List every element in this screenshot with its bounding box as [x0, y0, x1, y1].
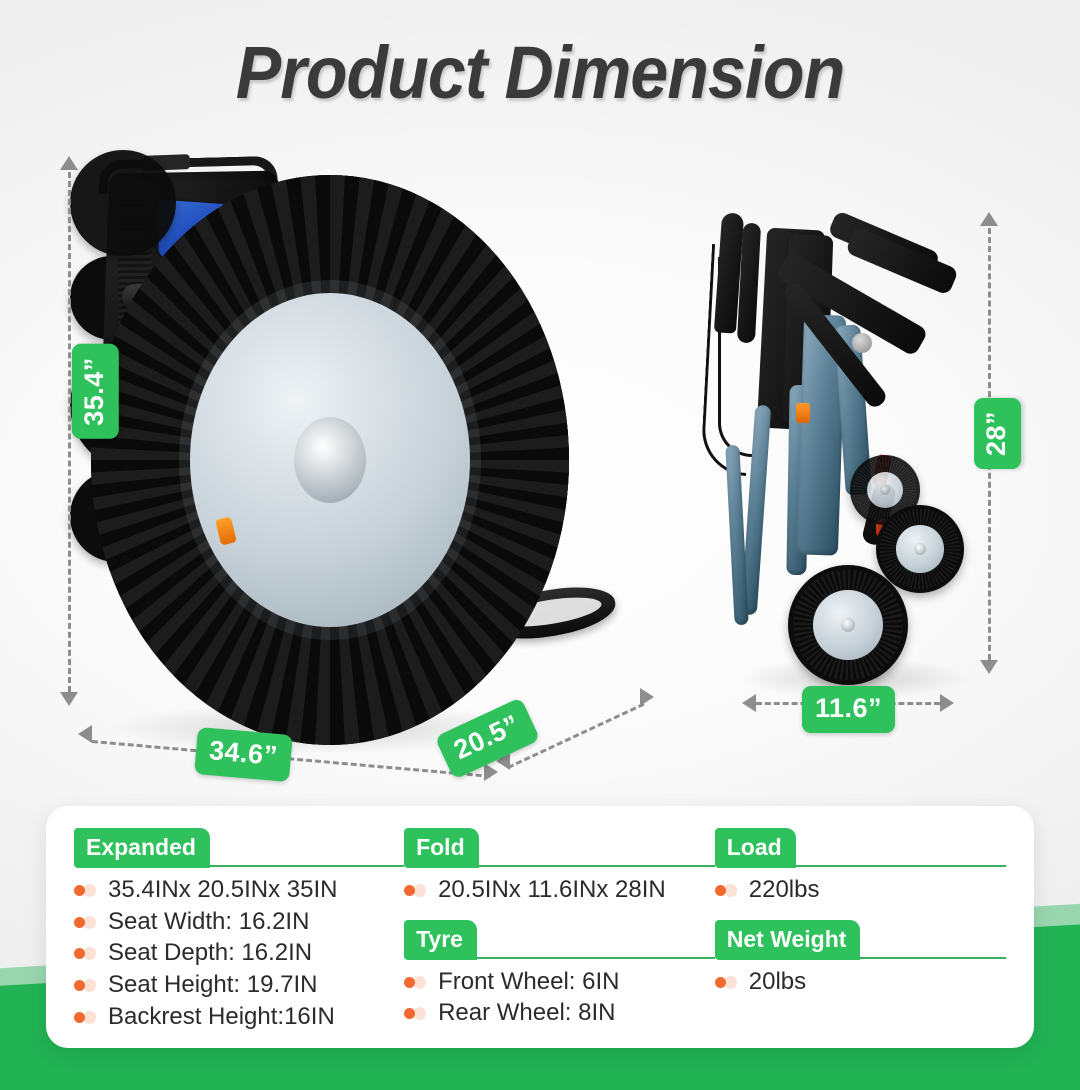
spec-text: 220lbs [749, 874, 820, 906]
spec-list-fold: 20.5INx 11.6INx 28IN [404, 874, 715, 906]
spec-rule [477, 957, 715, 959]
bullet-dot-icon [74, 942, 100, 964]
spec-rule [210, 865, 404, 867]
spec-section-fold: Fold 20.5INx 11.6INx 28IN [404, 828, 715, 906]
spec-column-load-weight: Load 220lbs Net Weight 20lbs [715, 828, 1006, 1026]
dimension-arrow-right [940, 694, 954, 712]
dimension-arrow-left [78, 725, 92, 743]
spec-tag-tyre: Tyre [404, 920, 477, 960]
list-item: Seat Height: 19.7IN [74, 969, 404, 1001]
spec-list-tyre: Front Wheel: 6IN Rear Wheel: 8IN [404, 966, 715, 1029]
bullet-dot-icon [404, 879, 430, 901]
spec-text: Seat Depth: 16.2IN [108, 937, 312, 969]
specification-card: Expanded 35.4INx 20.5INx 35IN Seat Width… [46, 806, 1034, 1048]
spec-text: Seat Width: 16.2IN [108, 906, 309, 938]
list-item: 20.5INx 11.6INx 28IN [404, 874, 715, 906]
dimension-arrow-right [640, 688, 654, 706]
bullet-dot-icon [715, 971, 741, 993]
spec-section-load: Load 220lbs [715, 828, 1006, 906]
spec-section-net-weight: Net Weight 20lbs [715, 920, 1006, 998]
spec-text: Rear Wheel: 8IN [438, 997, 615, 1029]
rear-wheel-far [70, 150, 176, 256]
dimension-label-expanded-height: 35.4” [72, 344, 119, 439]
list-item: Rear Wheel: 8IN [404, 997, 715, 1029]
spec-text: 20.5INx 11.6INx 28IN [438, 874, 666, 906]
spec-text: Front Wheel: 6IN [438, 966, 619, 998]
bullet-dot-icon [715, 879, 741, 901]
wheel-folded-lower [788, 565, 908, 685]
hinge-pivot-folded [852, 333, 872, 353]
list-item: Backrest Height:16IN [74, 1001, 404, 1033]
bullet-dot-icon [74, 879, 100, 901]
wheelchair-folded-image [700, 205, 985, 685]
spec-column-fold-tyre: Fold 20.5INx 11.6INx 28IN Tyre Front Whe… [404, 828, 715, 1026]
dimension-arrow-left [742, 694, 756, 712]
spec-text: 35.4INx 20.5INx 35IN [108, 874, 337, 906]
spec-text: 20lbs [749, 966, 806, 998]
list-item: Seat Depth: 16.2IN [74, 937, 404, 969]
dimension-arrow-up [60, 156, 78, 170]
dimension-line-expanded-height [68, 172, 71, 692]
spec-column-expanded: Expanded 35.4INx 20.5INx 35IN Seat Width… [74, 828, 404, 1026]
list-item: 35.4INx 20.5INx 35IN [74, 874, 404, 906]
spec-text: Seat Height: 19.7IN [108, 969, 317, 1001]
page-title: Product Dimension [43, 34, 1037, 112]
list-item: 20lbs [715, 966, 1006, 998]
spec-tag-load: Load [715, 828, 796, 868]
wheel-folded-upper [876, 505, 964, 593]
dimension-arrow-down [60, 692, 78, 706]
spec-rule [796, 865, 1006, 867]
spec-text: Backrest Height:16IN [108, 1001, 335, 1033]
spec-list-net-weight: 20lbs [715, 966, 1006, 998]
spec-rule [860, 957, 1006, 959]
dimension-label-expanded-length: 34.6” [194, 727, 292, 782]
spec-tag-net-weight: Net Weight [715, 920, 861, 960]
dimension-arrow-up [980, 212, 998, 226]
dimension-label-folded-width: 11.6” [802, 686, 895, 733]
spec-section-expanded: Expanded 35.4INx 20.5INx 35IN Seat Width… [74, 828, 404, 1032]
bullet-dot-icon [404, 1002, 430, 1024]
front-caster-near [70, 470, 162, 562]
dimension-label-folded-height: 28” [974, 398, 1021, 469]
bullet-dot-icon [74, 974, 100, 996]
wheelchair-expanded-image [70, 150, 590, 770]
spec-list-expanded: 35.4INx 20.5INx 35IN Seat Width: 16.2IN … [74, 874, 404, 1032]
list-item: Seat Width: 16.2IN [74, 906, 404, 938]
spec-rule [479, 865, 715, 867]
dimension-arrow-down [980, 660, 998, 674]
list-item: Front Wheel: 6IN [404, 966, 715, 998]
bullet-dot-icon [404, 971, 430, 993]
spec-section-tyre: Tyre Front Wheel: 6IN Rear Wheel: 8IN [404, 920, 715, 1029]
spec-tag-fold: Fold [404, 828, 479, 868]
spec-tag-expanded: Expanded [74, 828, 210, 868]
spec-list-load: 220lbs [715, 874, 1006, 906]
orange-latch-folded [796, 403, 810, 423]
bullet-dot-icon [74, 911, 100, 933]
list-item: 220lbs [715, 874, 1006, 906]
bullet-dot-icon [74, 1006, 100, 1028]
